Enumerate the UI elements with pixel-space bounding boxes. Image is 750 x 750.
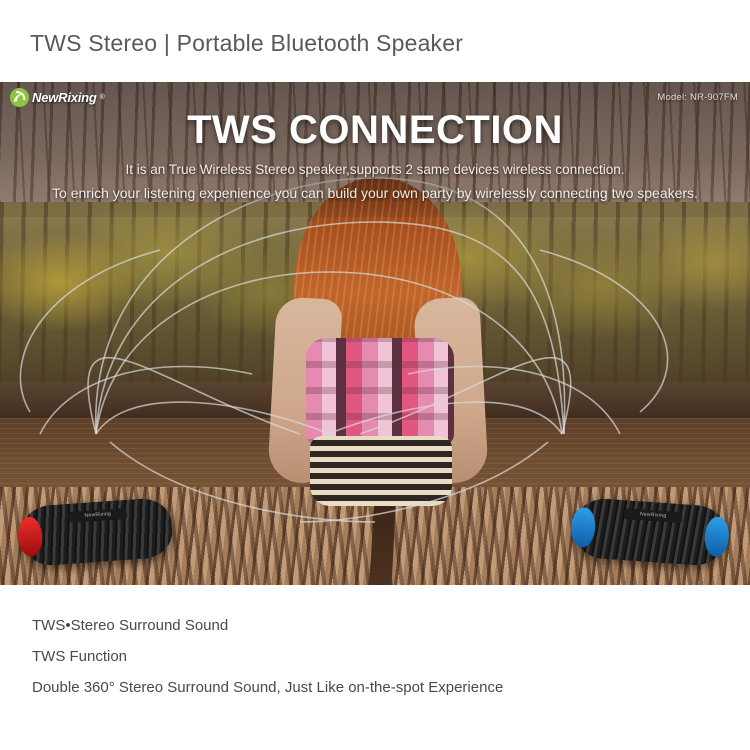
speaker-left-red: NewRixing — [20, 497, 174, 567]
page-header: TWS Stereo | Portable Bluetooth Speaker — [0, 0, 750, 82]
feature-list: TWS•Stereo Surround Sound TWS Function D… — [0, 585, 750, 750]
speaker-right-blue: NewRixing — [573, 497, 727, 567]
feature-line-2: TWS Function — [32, 648, 127, 665]
model-number: Model: NR-907FM — [657, 92, 738, 103]
speaker-body — [20, 497, 174, 567]
banner-subtitle-2: To enrich your listening expenience you … — [0, 185, 750, 201]
trademark-symbol: ® — [100, 94, 105, 101]
newrixing-swoosh-icon — [10, 88, 29, 107]
page-title: TWS Stereo | Portable Bluetooth Speaker — [30, 30, 463, 57]
brand-logo-text: NewRixing — [32, 90, 97, 105]
product-banner: NewRixing NewRixing NewRixing ® Model: N… — [0, 82, 750, 585]
speaker-body — [573, 497, 727, 567]
banner-subtitle-1: It is an True Wireless Stereo speaker,su… — [0, 162, 750, 177]
banner-headline: TWS CONNECTION — [0, 108, 750, 153]
product-detail-page: TWS Stereo | Portable Bluetooth Speaker — [0, 0, 750, 750]
feature-line-3: Double 360° Stereo Surround Sound, Just … — [32, 679, 503, 696]
feature-line-1: TWS•Stereo Surround Sound — [32, 617, 228, 634]
brand-logo: NewRixing ® — [10, 88, 105, 107]
